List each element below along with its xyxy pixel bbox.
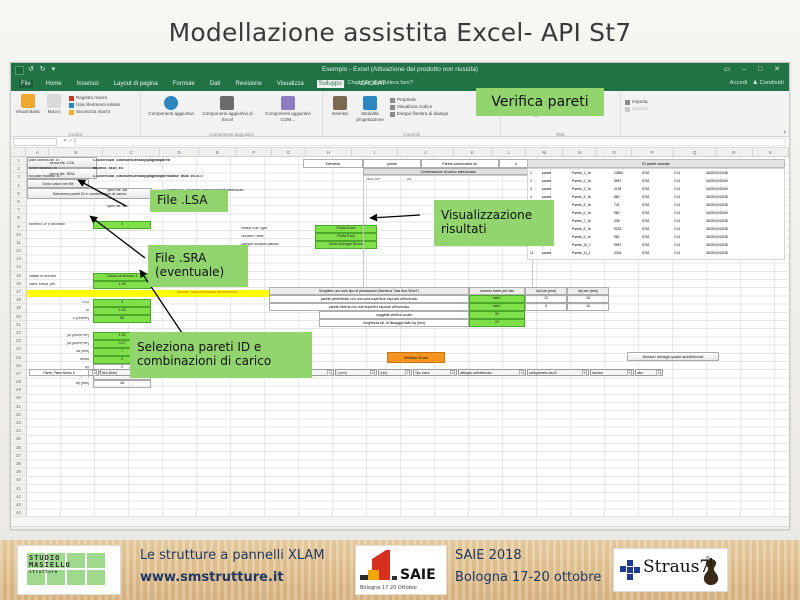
row-header[interactable]: 24	[11, 345, 26, 353]
row-header[interactable]: 10	[11, 231, 26, 239]
chevron-down-icon[interactable]: ▾	[405, 370, 410, 376]
cell-id: 980	[614, 209, 642, 217]
combo-col-elemento[interactable]: Elemento	[303, 159, 363, 168]
cell-d: 5762	[642, 249, 674, 257]
ribbon-group-import-export: Importa Esporta	[621, 91, 687, 137]
view-buttons[interactable]	[710, 529, 735, 530]
filter-col[interactable]: L [mm]▾	[335, 369, 377, 376]
importa-button[interactable]: Importa	[625, 99, 683, 105]
tab-home[interactable]: Home	[44, 80, 64, 88]
col-f[interactable]: F	[237, 148, 272, 156]
cell-type: parete	[542, 249, 572, 257]
cell-param-label[interactable]: βd [kN/m³/m²]	[29, 342, 89, 346]
relative-refs-icon	[69, 103, 74, 108]
combo-col-parete-consecutiva[interactable]: Parete consecutiva dir.	[421, 159, 499, 168]
cell-label-numero-gp[interactable]: numero GP e decimali	[29, 223, 89, 227]
macro-label: Macro	[48, 109, 61, 114]
normal-view-icon[interactable]	[710, 529, 717, 530]
row-header[interactable]: 33	[11, 419, 26, 427]
row-header[interactable]: 17	[11, 288, 26, 296]
ribbon-tabs: File Home Inserisci Layout di pagina For…	[19, 80, 387, 88]
cell-d: 5762	[642, 217, 674, 225]
save-icon[interactable]	[15, 66, 24, 75]
macro-icon	[47, 94, 61, 108]
row-header[interactable]: 11	[11, 239, 26, 247]
footer-bar: STUDIO MASIELLO strutture Le strutture a…	[0, 540, 800, 600]
slide: Modellazione assistita Excel- API St7 ↺ …	[0, 0, 800, 600]
cell-param-value[interactable]: 48	[93, 380, 151, 388]
run-dialog-icon	[390, 112, 395, 117]
col-e[interactable]: E	[199, 148, 237, 156]
cell-id: 880	[614, 193, 642, 201]
table-row[interactable]: 8 parete Parete_8_1b 9233 5762 C14 36/20…	[528, 225, 784, 233]
table-row[interactable]: 4 parete Parete_4_1b 880 5762 C14 36/20/…	[528, 193, 784, 201]
table2-row-c1[interactable]: lato?	[469, 295, 525, 303]
table2-col-numero-barre[interactable]: numero barre per lato	[469, 287, 525, 295]
col-s[interactable]: S	[753, 148, 789, 156]
tell-me-label: Che cosa si desidera fare?	[347, 80, 412, 86]
registra-macro-label: Registra macro	[76, 95, 107, 101]
row-header[interactable]: 32	[11, 411, 26, 419]
col-p[interactable]: P	[632, 148, 674, 156]
tab-formule[interactable]: Formule	[171, 80, 197, 88]
cell-sample-location[interactable]: Sample location planes	[241, 243, 299, 247]
visualizza-codice-label: Visualizza codice	[397, 104, 432, 110]
cell-param-label[interactable]: Fc,k	[29, 301, 89, 305]
tab-visualizza[interactable]: Visualizza	[275, 80, 306, 88]
callout-verifica-pareti: Verifica pareti	[476, 88, 604, 116]
componenti-aggiuntivi-button[interactable]: Componenti aggiuntivi	[146, 95, 196, 123]
row-header[interactable]: 15	[11, 272, 26, 280]
cell-value-numero-gp[interactable]: 4	[93, 221, 151, 229]
right-table-header[interactable]: ID pareti caricate	[527, 159, 785, 168]
cell-param-label[interactable]: βc [kN/m³/m²]	[29, 334, 89, 338]
zoom-slider-handle[interactable]	[755, 529, 757, 530]
callout-visualizzazione-risultati: Visualizzazione risultati	[434, 200, 554, 246]
esegui-dialogo-button[interactable]: Esegui finestra di dialogo	[390, 111, 448, 117]
cell-name: Parete_3_1b	[572, 185, 614, 193]
properties-icon	[390, 98, 395, 103]
filter-col-label: dettaglio architettonico	[460, 371, 492, 375]
page-title: Modellazione assistita Excel- API St7	[0, 18, 800, 47]
col-j[interactable]: J	[398, 148, 454, 156]
view-code-icon	[390, 105, 395, 110]
footer-col1-line2[interactable]: www.smstrutture.it	[140, 570, 284, 585]
filter-col-label: d [m]	[380, 371, 387, 375]
row-header[interactable]: 12	[11, 247, 26, 255]
filter-col-label: altro	[637, 371, 643, 375]
table2-row-c3[interactable]: 16	[567, 303, 609, 311]
filter-col[interactable]: dettaglio architettonico▾	[458, 369, 526, 376]
cell-id: 13852	[614, 169, 642, 177]
row-header[interactable]: 40	[11, 476, 26, 484]
col-d[interactable]: D	[160, 148, 198, 156]
footer-col2-line2: Bologna 17-20 ottobre	[455, 570, 601, 585]
cell-name: Parete_4_1b	[572, 193, 614, 201]
saie-logo-graphic: SAIE Bologna 17 20 Ottobre	[356, 546, 446, 594]
cell-label-full-path[interactable]: full path modello .b7	[29, 175, 89, 179]
row-header[interactable]: 18	[11, 296, 26, 304]
table2-row-label[interactable]: lunghezza tot. di fissaggio taffo kq [mm…	[319, 319, 469, 327]
esporta-label: Esporta	[632, 106, 648, 112]
combo-header-banner[interactable]: Combinazione di carico selezionata	[363, 168, 533, 175]
visual-basic-button[interactable]: Visual Basic	[15, 93, 41, 115]
cell-id: 338	[614, 217, 642, 225]
cell-label-kmod[interactable]: coeff. Kmod, ym	[29, 283, 89, 287]
filter-col[interactable]: altro▾	[635, 369, 663, 376]
row-header[interactable]: 43	[11, 501, 26, 509]
window-controls[interactable]: ▭ – □ ✕	[724, 65, 785, 73]
cell-name: Parete_8_1b	[572, 225, 614, 233]
col-b[interactable]: B	[49, 148, 103, 156]
col-o[interactable]: O	[597, 148, 632, 156]
table2-row-label[interactable]: parete interna con due superfici esposte…	[269, 303, 469, 311]
cell-n: 3	[528, 185, 542, 193]
row-header[interactable]: 23	[11, 337, 26, 345]
chevron-down-icon[interactable]: ▾	[450, 370, 455, 376]
import-icon	[625, 100, 630, 105]
tab-sviluppo[interactable]: Sviluppo	[317, 80, 344, 88]
row-header[interactable]: 7	[11, 206, 26, 214]
tab-revisione[interactable]: Revisione	[233, 80, 263, 88]
cell-label-classe-servizio[interactable]: classe di servizio	[29, 275, 89, 279]
cell-hint-open-sra[interactable]: open file .sra	[107, 205, 153, 209]
cell-label-path-cartella[interactable]: path cartella file .b7	[29, 159, 89, 163]
cell-id: 5987	[614, 177, 642, 185]
cell-name: Parete_7_1b	[572, 217, 614, 225]
row-header[interactable]: 35	[11, 435, 26, 443]
col-g[interactable]: G	[272, 148, 307, 156]
row-header[interactable]: 6	[11, 198, 26, 206]
filter-col-label: Ntot [kNm]	[102, 371, 117, 375]
esporta-button[interactable]: Esporta	[625, 106, 683, 112]
cell-layers: 36/20/20/20/36	[706, 217, 766, 225]
row-header[interactable]: 16	[11, 280, 26, 288]
mostra-dettagli-button[interactable]: Mostra i dettagli quadri architettonici	[627, 352, 719, 361]
cell-param-label[interactable]: kmod	[29, 358, 89, 362]
col-h[interactable]: H	[306, 148, 352, 156]
cell-layers: 40/20/20/20/40	[706, 209, 766, 217]
cell-value-full-path[interactable]: C:\Users\SM_Strutture\Desktop\pagina\par…	[93, 175, 323, 179]
row-header[interactable]: 27	[11, 370, 26, 378]
tab-inserisci[interactable]: Inserisci	[75, 80, 101, 88]
tab-file[interactable]: File	[19, 80, 33, 88]
cell-class: C14	[674, 169, 706, 177]
row-header[interactable]: 13	[11, 255, 26, 263]
cell-id: 981	[614, 233, 642, 241]
cell-surface-plane[interactable]: Surface Plane	[241, 235, 289, 239]
row-header[interactable]: 21	[11, 321, 26, 329]
page-break-view-icon[interactable]	[728, 529, 735, 530]
cell-layers: 36/20/20/20/36	[706, 201, 766, 209]
cell-type: parete	[542, 169, 572, 177]
table-row[interactable]: 6 parete Parete_6_1b 980 5762 C14 40/20/…	[528, 209, 784, 217]
cell-d: 5762	[642, 201, 674, 209]
table2-row-label[interactable]: soggetta verifica locale	[319, 311, 469, 319]
inserisci-controllo-button[interactable]: Inserisci	[327, 95, 353, 117]
cell-layers: 36/20/20/20/36	[706, 193, 766, 201]
formula-bar: ✕ ✓ fx	[11, 137, 789, 148]
chevron-down-icon[interactable]: ▾	[627, 370, 632, 376]
col-r[interactable]: R	[716, 148, 752, 156]
cell-name: Parete_11_1	[572, 249, 614, 257]
cell-d: 5762	[642, 193, 674, 201]
filter-col-label: L [mm]	[337, 371, 347, 375]
row-header[interactable]: 8	[11, 214, 26, 222]
cell-name: Parete_2_1b	[572, 177, 614, 185]
row-header[interactable]: 1	[11, 157, 26, 165]
col-a[interactable]: A	[26, 148, 49, 156]
name-box[interactable]	[13, 138, 57, 146]
chevron-down-icon[interactable]: ▾	[519, 370, 524, 376]
ribbon-collapse-icon[interactable]: ▴	[783, 129, 786, 135]
cell-label-nome-modello[interactable]: nome modello .b7	[29, 167, 89, 171]
table2-row-c2[interactable]: 12	[525, 295, 567, 303]
col-l[interactable]: L	[492, 148, 527, 156]
cell-class: C14	[674, 249, 706, 257]
col-c[interactable]: C	[103, 148, 160, 156]
visualizza-codice-button[interactable]: Visualizza codice	[390, 104, 448, 110]
scrivi-valori-button[interactable]: Scrivi valori nel file	[27, 179, 89, 188]
page-layout-view-icon[interactable]	[719, 529, 726, 530]
row-headers: 1 2 3 4 5 6 7 8 9 10 11 12 13 14 15 16 1…	[11, 157, 27, 530]
table2-col-kpl-lim[interactable]: kpl,Lim [mm]	[525, 287, 567, 295]
filter-col-label: Tipo barra	[415, 371, 429, 375]
row-header[interactable]: 2	[11, 165, 26, 173]
cell-id: 741	[614, 201, 642, 209]
riferimenti-relativi-label: Usa riferimenti relativi	[76, 102, 120, 108]
window-title: Esempio - Excel (Attivazione del prodott…	[322, 66, 478, 73]
table2-row-c3[interactable]: 18	[567, 295, 609, 303]
row-header[interactable]: 5	[11, 190, 26, 198]
cell-id: 9233	[614, 225, 642, 233]
ribbon-group-codice: Visual Basic Macro Registra macro	[11, 91, 141, 137]
cell-value-kmod[interactable]: 1.45	[93, 281, 151, 289]
cell-param-label[interactable]: sd [mm]	[29, 350, 89, 354]
cell-type: parete	[542, 177, 572, 185]
chevron-down-icon[interactable]: ▾	[327, 370, 332, 376]
modalita-progettazione-label: Modalità progettazione	[356, 111, 384, 122]
importa-label: Importa	[632, 99, 648, 105]
modalita-progettazione-button[interactable]: Modalità progettazione	[353, 95, 387, 123]
saie-logo: SAIE Bologna 17 20 Ottobre	[355, 545, 447, 595]
componenti-excel-label: Componenti aggiuntivi di Excel	[202, 111, 252, 122]
cell-layers: 36/20/20/20/36	[706, 169, 766, 177]
column-headers: A B C D E F G H I J K L M N O P Q R S	[11, 148, 789, 157]
ribbon-tab-strip: File Home Inserisci Layout di pagina For…	[11, 79, 789, 91]
row-header[interactable]: 3	[11, 173, 26, 181]
cell-param-value[interactable]: 1.45	[93, 307, 151, 315]
componenti-excel-button[interactable]: Componenti aggiuntivi di Excel	[198, 95, 256, 123]
cell-value-nome-modello[interactable]: Modello_asse_ES	[93, 167, 293, 171]
right-table[interactable]: 1 parete Parete_1_1b 13852 5762 C14 36/2…	[527, 168, 785, 260]
cell-d: 5762	[642, 177, 674, 185]
chevron-down-icon[interactable]: ▾	[656, 370, 661, 376]
col-m[interactable]: M	[526, 148, 562, 156]
straus7-logo: Straus7 ®	[613, 548, 728, 592]
table2-row-label[interactable]: parete perimetrale con una sola superfic…	[269, 295, 469, 303]
cell-result-sub-type[interactable]: Result Sub Type	[241, 227, 289, 231]
saie-logo-text: SAIE	[400, 567, 436, 583]
verifica-xlam-button[interactable]: Verifica XLam	[387, 352, 445, 363]
status-text: Pronto	[15, 529, 28, 530]
formula-input[interactable]	[75, 138, 786, 146]
row-header[interactable]: 41	[11, 485, 26, 493]
cell-layers: 40/20/20/20/40	[706, 177, 766, 185]
cell-name: Parete_10_1	[572, 241, 614, 249]
row-header[interactable]: 38	[11, 460, 26, 468]
table-row[interactable]: 3 parete Parete_3_1b 4195 5762 C14 40/20…	[528, 185, 784, 193]
table-row[interactable]: 5 parete Parete_5_1b 741 5762 C14 36/20/…	[528, 201, 784, 209]
cell-layers: 40/20/20/20/40	[706, 185, 766, 193]
cell-param-value[interactable]: 3	[93, 299, 151, 307]
row-header[interactable]: 25	[11, 354, 26, 362]
callout-file-lsa: File .LSA	[150, 190, 228, 212]
cell-id: 4195	[614, 185, 642, 193]
col-i[interactable]: I	[352, 148, 398, 156]
proprieta-button[interactable]: Proprietà	[390, 97, 448, 103]
chevron-down-icon[interactable]: ▾	[370, 370, 375, 376]
filter-col[interactable]: collegamento tav-fil▾	[527, 369, 589, 376]
table-row[interactable]: 7 parete Parete_7_1b 338 5762 C14 36/20/…	[528, 217, 784, 225]
cell-name: Parete_6_1b	[572, 209, 614, 217]
cell-d: 5762	[642, 241, 674, 249]
row-header[interactable]: 37	[11, 452, 26, 460]
row-header[interactable]: 22	[11, 329, 26, 337]
cell-n: 2	[528, 177, 542, 185]
account-area[interactable]: Accedi ♟ Condividi	[730, 80, 784, 86]
table2-row-c1[interactable]: 90	[469, 311, 525, 319]
registra-macro-button[interactable]: Registra macro	[69, 95, 120, 101]
addins-icon	[164, 96, 178, 110]
col-n[interactable]: N	[563, 148, 598, 156]
row-header[interactable]: 42	[11, 493, 26, 501]
logo-line3: strutture	[29, 570, 58, 575]
row-header[interactable]: 34	[11, 427, 26, 435]
combo-col-parete[interactable]: parete	[363, 159, 421, 168]
share-label: Condividi	[760, 80, 784, 86]
ribbon: Visual Basic Macro Registra macro	[11, 91, 789, 137]
tab-layout-di-pagina[interactable]: Layout di pagina	[112, 80, 160, 88]
row-header[interactable]: 9	[11, 223, 26, 231]
footer-col1-line1: Le strutture a pannelli XLAM	[140, 548, 325, 563]
macro-button[interactable]: Macro	[41, 93, 67, 115]
sheet-name-cell[interactable]: Pareti_Pareti Nexus 6	[29, 369, 89, 376]
filter-col[interactable]: d [m]▾	[378, 369, 412, 376]
cell-type: parete	[542, 185, 572, 193]
cell-layers: 36/20/20/20/36	[706, 233, 766, 241]
cell-class: C14	[674, 241, 706, 249]
cell-d: 5762	[642, 225, 674, 233]
cell-param-label[interactable]: σy [mm]	[29, 382, 89, 386]
cell-class: C14	[674, 177, 706, 185]
chevron-down-icon[interactable]: ▾	[582, 370, 587, 376]
row-header[interactable]: 30	[11, 394, 26, 402]
violin-icon	[699, 558, 723, 586]
riferimenti-relativi-button[interactable]: Usa riferimenti relativi	[69, 102, 120, 108]
filter-col[interactable]: Tipo barra▾	[413, 369, 457, 376]
table2-row-c2[interactable]: 8	[525, 303, 567, 311]
cell-class: C14	[674, 193, 706, 201]
cell-class: C14	[674, 225, 706, 233]
row-header[interactable]: 31	[11, 403, 26, 411]
tell-me-box[interactable]: ♡ Che cosa si desidera fare?	[341, 80, 413, 86]
row-header[interactable]: 4	[11, 182, 26, 190]
table-row[interactable]: 11 parete Parete_11_1 3334 5762 C14 36/2…	[528, 249, 784, 257]
visual-basic-label: Visual Basic	[16, 109, 41, 114]
row-header[interactable]: 14	[11, 263, 26, 271]
cell-param-label[interactable]: E [N/mm²]	[29, 317, 89, 321]
insert-control-icon	[333, 96, 347, 110]
table2-row-c1[interactable]: lato?	[469, 303, 525, 311]
row-header[interactable]: 36	[11, 444, 26, 452]
cell-class: C14	[674, 201, 706, 209]
chevron-down-icon[interactable]: ▾	[92, 370, 97, 376]
sheet-tab-bar[interactable]	[11, 516, 789, 526]
cell-id: 3334	[614, 249, 642, 257]
design-mode-icon	[363, 96, 377, 110]
cell-class: C14	[674, 233, 706, 241]
filter-col-label: collegamento tav-fil	[529, 371, 556, 375]
ribbon-group-controlli: Inserisci Modalità progettazione Proprie…	[323, 91, 501, 137]
cell-class: C14	[674, 209, 706, 217]
cell-n: 11	[528, 249, 542, 257]
row-header[interactable]: 19	[11, 304, 26, 312]
table2-header[interactable]: Scegliere uno solo tipo di prestazione (…	[269, 287, 469, 295]
table2-col-kpl-ser[interactable]: kpl,ser [mm]	[567, 287, 609, 295]
export-icon	[625, 107, 630, 112]
excel-title-bar: ↺ ↻ ▾ Esempio - Excel (Attivazione del p…	[11, 63, 789, 79]
cell-name: Parete_9_1b	[572, 233, 614, 241]
cell-d: 5762	[642, 233, 674, 241]
cell-param-value[interactable]: 60	[93, 315, 151, 323]
cell-value-classe-servizio[interactable]: Classe di servizio 1	[93, 273, 151, 281]
componenti-aggiuntivi-label: Componenti aggiuntivi	[148, 111, 193, 116]
table-row[interactable]: 9 parete Parete_9_1b 981 5762 C14 36/20/…	[528, 233, 784, 241]
sicurezza-macro-button[interactable]: Sicurezza macro	[69, 109, 120, 115]
table2-row-c1[interactable]: 20	[469, 319, 525, 327]
col-q[interactable]: Q	[674, 148, 716, 156]
row-header[interactable]: 28	[11, 378, 26, 386]
row-header[interactable]: 29	[11, 386, 26, 394]
tab-dati[interactable]: Dati	[208, 80, 223, 88]
cell-layers: 36/20/20/20/36	[706, 241, 766, 249]
table-row[interactable]: 10 parete Parete_10_1 9987 5762 C14 36/2…	[528, 241, 784, 249]
row-header[interactable]: 20	[11, 313, 26, 321]
table-row[interactable]: 2 parete Parete_2_1b 5987 5762 C14 40/20…	[528, 177, 784, 185]
cell-hint-open-lsa[interactable]: open file .lsa	[107, 189, 153, 193]
filter-col[interactable]: barriera▾	[590, 369, 634, 376]
warning-icon	[69, 110, 74, 115]
visual-basic-icon	[21, 94, 35, 108]
row-header[interactable]: 39	[11, 468, 26, 476]
cell-param-label[interactable]: fv	[29, 309, 89, 313]
row-header[interactable]: 26	[11, 362, 26, 370]
cell-name: Parete_1_1b	[572, 169, 614, 177]
quick-access-toolbar[interactable]: ↺ ↻ ▾	[28, 65, 57, 73]
zoom-level[interactable]: 88%	[777, 529, 786, 530]
saie-logo-sub: Bologna 17 20 Ottobre	[360, 585, 417, 591]
cell-id: 9987	[614, 241, 642, 249]
cell-d: 5762	[642, 185, 674, 193]
account-label: Accedi	[730, 80, 748, 86]
componenti-com-button[interactable]: Componenti aggiuntivi COM...	[259, 95, 317, 123]
logo-line2: MASIELLO	[29, 561, 71, 569]
select-all-corner[interactable]	[11, 148, 26, 156]
table-row[interactable]: 1 parete Parete_1_1b 13852 5762 C14 36/2…	[528, 169, 784, 177]
cell-value-path-cartella[interactable]: C:\Users\SM_Strutture\Desktop\pagina\par…	[93, 159, 293, 163]
col-k[interactable]: K	[454, 148, 492, 156]
